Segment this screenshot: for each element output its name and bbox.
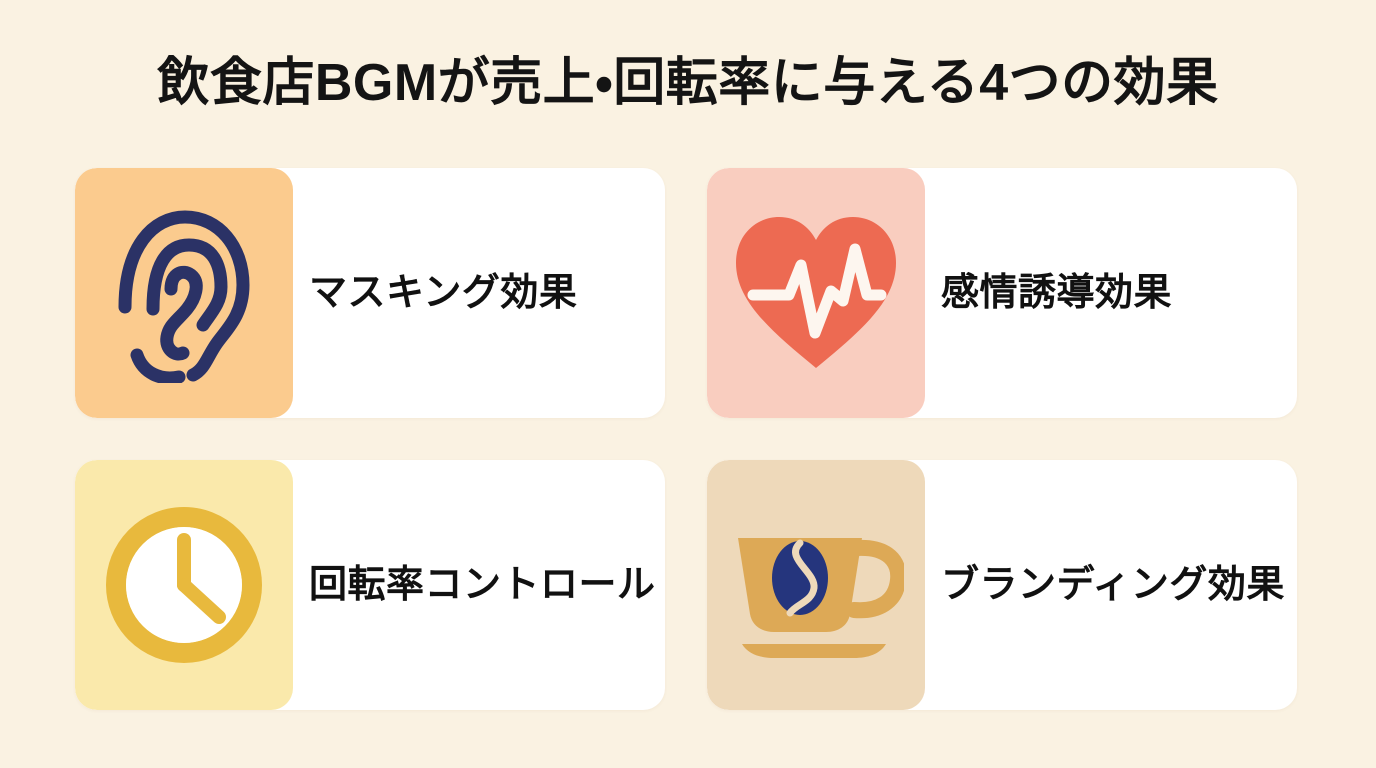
effect-card-label-emotion: 感情誘導効果 [925, 270, 1297, 316]
heart-pulse-icon [731, 213, 901, 373]
effect-card-grid: マスキング効果 感情誘導効果 [75, 168, 1297, 710]
effect-card-label-branding: ブランディング効果 [925, 562, 1297, 608]
icon-tile-branding [707, 460, 925, 710]
effect-card-masking[interactable]: マスキング効果 [75, 168, 665, 418]
clock-icon [106, 507, 262, 663]
effect-card-turnover[interactable]: 回転率コントロール [75, 460, 665, 710]
coffee-cup-icon [728, 510, 904, 660]
effect-card-label-masking: マスキング効果 [293, 270, 665, 316]
page-title: 飲食店BGMが売上・回転率に与える4つの効果 [0, 52, 1376, 114]
icon-tile-masking [75, 168, 293, 418]
icon-tile-emotion [707, 168, 925, 418]
effect-card-branding[interactable]: ブランディング効果 [707, 460, 1297, 710]
ear-icon [109, 203, 259, 383]
infographic-slide: 飲食店BGMが売上・回転率に与える4つの効果 [0, 0, 1376, 768]
effect-card-emotion[interactable]: 感情誘導効果 [707, 168, 1297, 418]
icon-tile-turnover [75, 460, 293, 710]
effect-card-label-turnover: 回転率コントロール [293, 562, 665, 608]
